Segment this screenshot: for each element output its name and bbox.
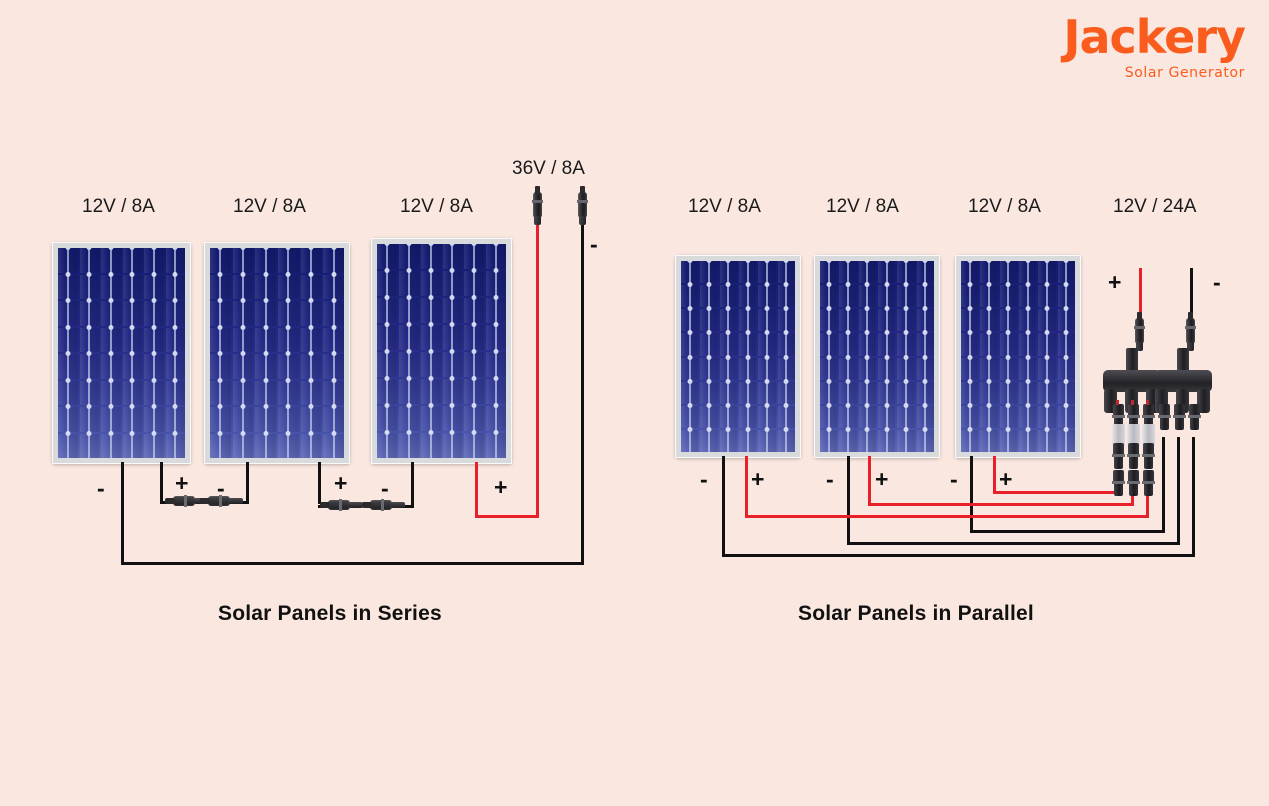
jackery-logo: Jackery Solar Generator: [1063, 14, 1245, 80]
parallel-sign-p1-neg: -: [700, 468, 708, 491]
series-output-label: 36V / 8A: [512, 158, 585, 180]
parallel-output-sign-negative: -: [1213, 271, 1221, 294]
series-wire-p1-neg-vert: [121, 462, 124, 565]
series-sign-p3-pos: +: [494, 476, 507, 499]
parallel-sign-p2-pos: +: [875, 468, 888, 491]
parallel-wire-neg-riser-3: [1192, 437, 1195, 557]
solar-panel-parallel-3: [955, 255, 1081, 458]
mc4-output-connector-positive: [530, 186, 545, 226]
parallel-output-lead-positive: [1139, 268, 1142, 316]
series-panel-label-3: 12V / 8A: [400, 196, 473, 218]
parallel-wire-neg-riser-1: [1162, 437, 1165, 533]
series-wire-bottom-neg: [121, 562, 584, 565]
parallel-wire-p2-neg-vert: [847, 456, 850, 545]
parallel-panel-label-1: 12V / 8A: [688, 196, 761, 218]
mc4-pair-pos-2-mid: [1127, 443, 1140, 469]
parallel-wire-p1-neg-horiz: [722, 554, 1195, 557]
mc4-pair-neg-3-top: [1188, 404, 1201, 430]
series-wire-p3-neg-vert: [411, 462, 414, 508]
mc4-parallel-output-connector-negative: [1183, 312, 1198, 352]
series-wire-p3-pos-vert: [475, 462, 478, 518]
series-sign-p3-neg: -: [381, 477, 389, 500]
parallel-sign-p2-neg: -: [826, 468, 834, 491]
mc4-pair-pos-3-mid: [1142, 443, 1155, 469]
parallel-panel-label-3: 12V / 8A: [968, 196, 1041, 218]
parallel-wire-p1-pos-horiz: [745, 515, 1148, 518]
mc4-parallel-output-connector-positive: [1132, 312, 1147, 352]
parallel-panel-label-2: 12V / 8A: [826, 196, 899, 218]
parallel-wire-p1-neg-vert: [722, 456, 725, 557]
series-sign-p2-neg: -: [217, 477, 225, 500]
series-wire-pos-bottom: [475, 515, 539, 518]
series-sign-p1-pos: +: [175, 472, 188, 495]
parallel-output-label: 12V / 24A: [1113, 196, 1196, 218]
solar-panel-parallel-1: [675, 255, 801, 458]
parallel-wire-p2-pos-horiz: [868, 503, 1133, 506]
mc4-pair-neg-2-top: [1173, 404, 1186, 430]
brand-tagline: Solar Generator: [1063, 66, 1245, 80]
brand-name: Jackery: [1063, 14, 1245, 60]
series-wire-neg-to-output: [581, 222, 584, 564]
parallel-wire-p3-neg-vert: [970, 456, 973, 533]
series-sign-p1-neg: -: [97, 477, 105, 500]
parallel-sign-p1-pos: +: [751, 468, 764, 491]
solar-panel-series-3: [371, 238, 512, 464]
series-caption: Solar Panels in Series: [218, 602, 442, 626]
mc4-connector-pair-2a: [320, 498, 366, 512]
series-wire-pos-to-output: [536, 222, 539, 518]
mc4-pair-pos-3-bottom: [1142, 470, 1155, 496]
series-wire-p2-neg-vert: [246, 462, 249, 504]
solar-panel-series-2: [204, 242, 350, 464]
series-output-sign-negative: -: [590, 233, 598, 256]
parallel-sign-p3-neg: -: [950, 468, 958, 491]
mc4-output-connector-negative: [575, 186, 590, 226]
parallel-wire-p2-neg-horiz: [847, 542, 1180, 545]
parallel-sign-p3-pos: +: [999, 468, 1012, 491]
solar-panel-parallel-2: [814, 255, 940, 458]
parallel-wire-p2-pos-vert: [868, 456, 871, 506]
parallel-wire-neg-riser-2: [1177, 437, 1180, 545]
mc4-pair-pos-1-mid: [1112, 443, 1125, 469]
mc4-pair-neg-1-top: [1158, 404, 1171, 430]
mc4-pair-pos-2-bottom: [1127, 470, 1140, 496]
diagram-canvas: Jackery Solar Generator 12V / 8A 12V / 8…: [0, 0, 1269, 806]
parallel-wire-p3-pos-vert: [993, 456, 996, 494]
series-panel-label-2: 12V / 8A: [233, 196, 306, 218]
parallel-output-sign-positive: +: [1108, 271, 1121, 294]
parallel-output-lead-negative: [1190, 268, 1193, 316]
series-sign-p2-pos: +: [334, 472, 347, 495]
parallel-wire-p1-pos-vert: [745, 456, 748, 518]
mc4-pair-pos-1-bottom: [1112, 470, 1125, 496]
parallel-caption: Solar Panels in Parallel: [798, 602, 1034, 626]
series-panel-label-1: 12V / 8A: [82, 196, 155, 218]
solar-panel-series-1: [52, 242, 191, 464]
parallel-wire-p3-neg-horiz: [970, 530, 1165, 533]
series-wire-p1-pos-vert: [160, 462, 163, 504]
